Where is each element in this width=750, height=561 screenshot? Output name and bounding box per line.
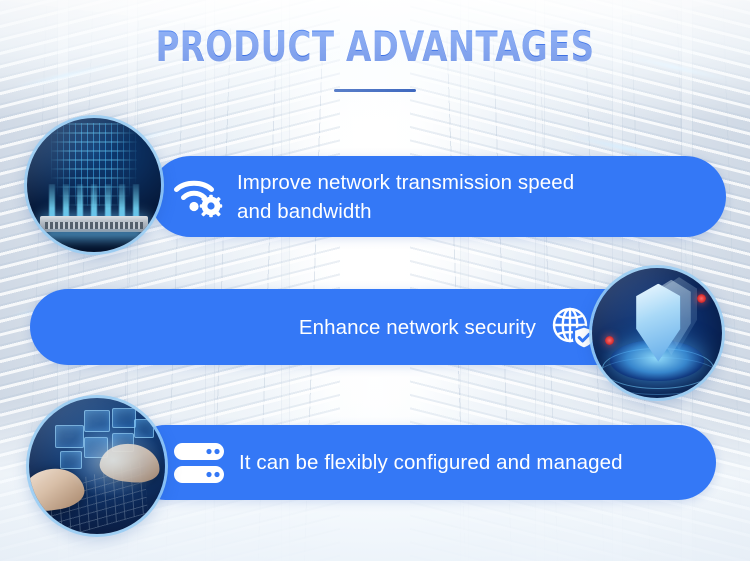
page-title: PRODUCT ADVANTAGES [53,26,698,68]
advantage-row-2-image [592,268,722,398]
advantage-row-1-content: Improve network transmission speed and b… [150,168,574,226]
security-shield-hologram-photo [592,268,722,398]
hands-typing-keyboard-photo [29,398,165,534]
advantage-row-2-pill[interactable]: Enhance network security [30,289,658,365]
advantage-row-2-text: Enhance network security [299,313,536,342]
switch-ports [45,222,144,229]
advantage-row-1-pill[interactable]: Improve network transmission speed and b… [150,156,726,237]
light-beams [46,184,142,219]
title-underline-rule [334,89,416,92]
globe-shield-icon [550,304,596,350]
advantage-row-1-text: Improve network transmission speed and b… [237,168,574,226]
advantage-row-3-text: It can be flexibly configured and manage… [239,448,623,477]
product-advantages-poster: PRODUCT ADVANTAGES [0,0,750,561]
server-stack-icon [173,441,225,485]
holo-haze [29,398,165,534]
poster-header: PRODUCT ADVANTAGES [0,26,750,92]
advantage-row-3-image [29,398,165,534]
advantage-row-3-content: It can be flexibly configured and manage… [128,441,623,485]
rack-switch-device [40,216,147,232]
switch-glow-reflection [48,232,139,249]
network-switch-data-stream-photo [27,118,161,252]
accent-light-dot [605,336,614,345]
wifi-gear-icon [173,176,223,218]
advantage-row-3-pill[interactable]: It can be flexibly configured and manage… [128,425,716,500]
advantage-row-1-image [27,118,161,252]
